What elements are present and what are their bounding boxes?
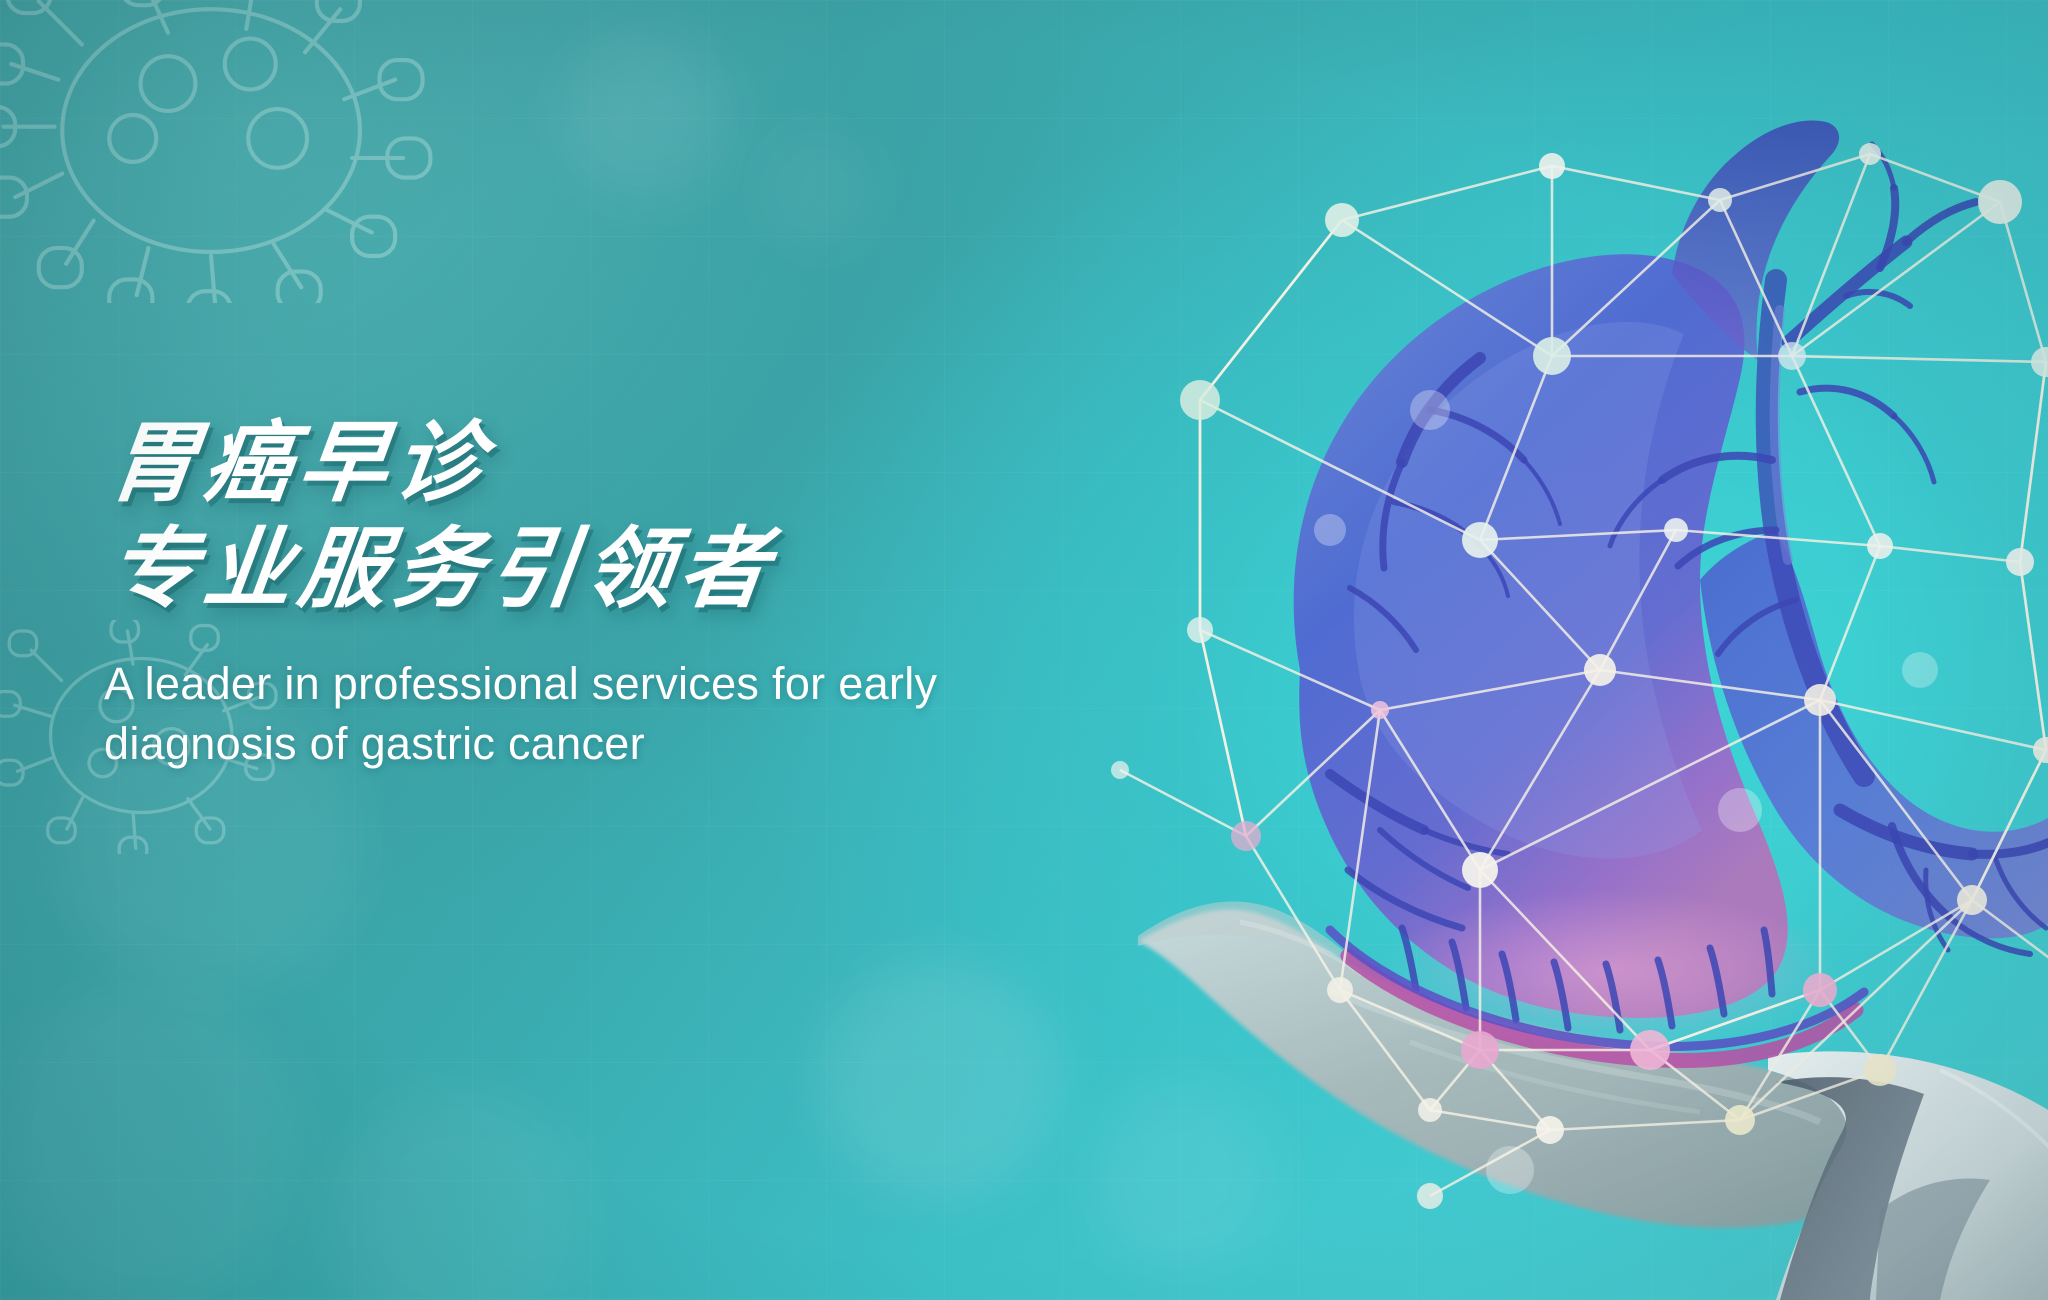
hero-copy: 胃癌早诊 专业服务引领者 A leader in professional se… [104, 418, 1144, 774]
stomach-organ-illustration [1180, 110, 2048, 1300]
bokeh-circle [0, 980, 300, 1300]
hero-banner: 胃癌早诊 专业服务引领者 A leader in professional se… [0, 0, 2048, 1300]
headline-line-2: 专业服务引领者 [104, 524, 1155, 614]
open-palm-hand-illustration [1138, 901, 2048, 1300]
polygon-network-overlay [1120, 154, 2048, 1196]
bokeh-circle [330, 1090, 590, 1300]
bokeh-circle [760, 130, 880, 250]
bokeh-circle [560, 30, 730, 200]
stomach-body [1294, 120, 2048, 1050]
bokeh-circle [820, 960, 1060, 1200]
subtitle-text: A leader in professional services for ea… [104, 654, 1104, 775]
stomach-vasculature [1330, 144, 2048, 1030]
bokeh-circle [1090, 1080, 1280, 1270]
network-nodes [1111, 143, 2048, 1209]
virus-outline-icon [0, 0, 450, 300]
headline-line-1: 胃癌早诊 [104, 418, 1155, 508]
